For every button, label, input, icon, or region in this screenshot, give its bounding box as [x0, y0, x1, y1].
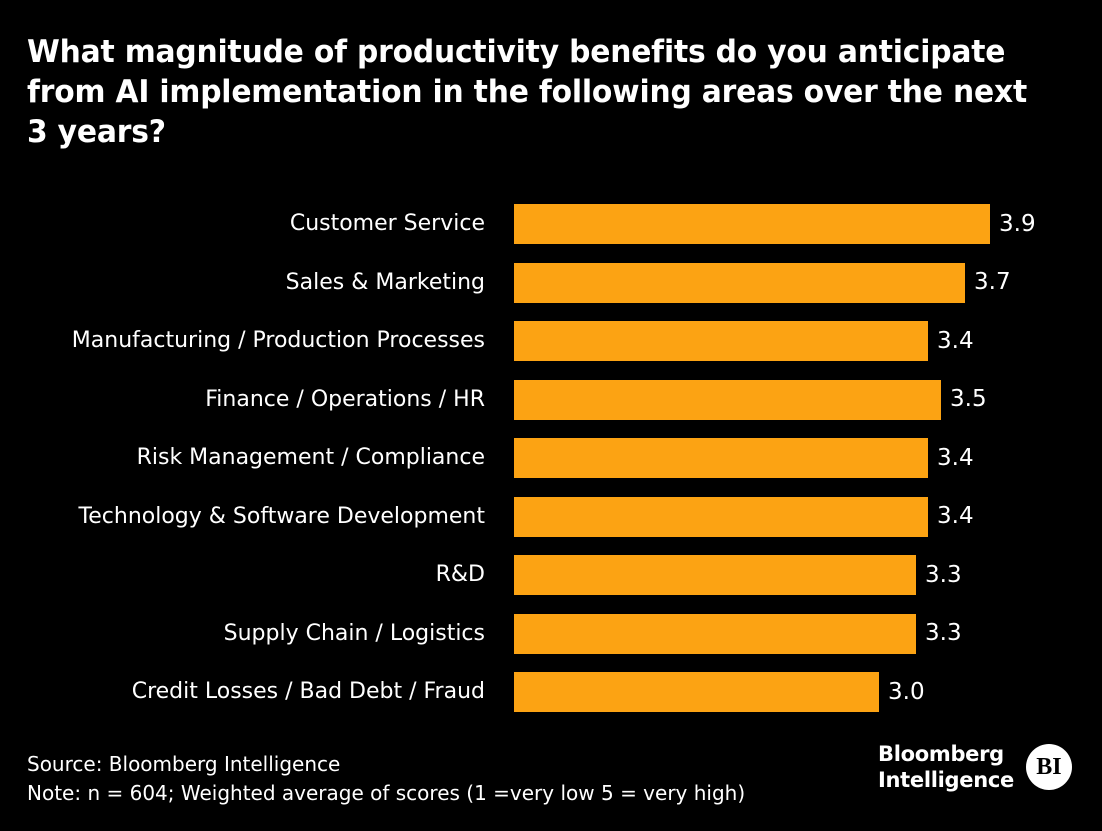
bar-group: 3.4	[514, 497, 974, 537]
chart-page: What magnitude of productivity benefits …	[0, 0, 1102, 831]
chart-row: Credit Losses / Bad Debt / Fraud3.0	[0, 663, 1102, 722]
bar-chart: Customer Service3.9Sales & Marketing3.7M…	[0, 195, 1102, 730]
bar	[514, 380, 941, 420]
chart-row: Sales & Marketing3.7	[0, 254, 1102, 313]
bar-value-label: 3.4	[937, 505, 974, 528]
bar-group: 3.3	[514, 555, 962, 595]
chart-row: Customer Service3.9	[0, 195, 1102, 254]
bar-group: 3.3	[514, 614, 962, 654]
chart-row: Manufacturing / Production Processes3.4	[0, 312, 1102, 371]
bar	[514, 672, 879, 712]
bar	[514, 555, 916, 595]
chart-row: Risk Management / Compliance3.4	[0, 429, 1102, 488]
bar	[514, 204, 990, 244]
bar-value-label: 3.3	[925, 564, 962, 587]
category-label: Risk Management / Compliance	[0, 445, 485, 471]
bar	[514, 321, 928, 361]
bar-value-label: 3.9	[999, 213, 1036, 236]
bar	[514, 497, 928, 537]
chart-row: Finance / Operations / HR3.5	[0, 371, 1102, 430]
note-text: Note: n = 604; Weighted average of score…	[27, 779, 745, 808]
bar-value-label: 3.3	[925, 622, 962, 645]
bar-value-label: 3.0	[888, 681, 925, 704]
bar-value-label: 3.7	[974, 271, 1011, 294]
bar	[514, 614, 916, 654]
category-label: Manufacturing / Production Processes	[0, 328, 485, 354]
chart-row: R&D3.3	[0, 546, 1102, 605]
bar-value-label: 3.5	[950, 388, 987, 411]
bloomberg-intelligence-logo: Bloomberg Intelligence BI	[878, 741, 1072, 793]
bar-group: 3.4	[514, 321, 974, 361]
bar-group: 3.7	[514, 263, 1011, 303]
bar-group: 3.4	[514, 438, 974, 478]
bar-group: 3.5	[514, 380, 987, 420]
bar-value-label: 3.4	[937, 330, 974, 353]
logo-wordmark: Bloomberg Intelligence	[878, 741, 1014, 793]
bar-value-label: 3.4	[937, 447, 974, 470]
category-label: Technology & Software Development	[0, 504, 485, 530]
bar-group: 3.0	[514, 672, 925, 712]
category-label: Customer Service	[0, 211, 485, 237]
category-label: Finance / Operations / HR	[0, 387, 485, 413]
bar	[514, 438, 928, 478]
category-label: Sales & Marketing	[0, 270, 485, 296]
logo-line-1: Bloomberg	[878, 741, 1014, 767]
footer: Source: Bloomberg Intelligence Note: n =…	[27, 750, 745, 808]
chart-row: Supply Chain / Logistics3.3	[0, 605, 1102, 664]
bar	[514, 263, 965, 303]
bar-group: 3.9	[514, 204, 1036, 244]
bi-badge-icon: BI	[1026, 744, 1072, 790]
logo-line-2: Intelligence	[878, 767, 1014, 793]
source-text: Source: Bloomberg Intelligence	[27, 750, 745, 779]
category-label: Credit Losses / Bad Debt / Fraud	[0, 679, 485, 705]
category-label: R&D	[0, 562, 485, 588]
category-label: Supply Chain / Logistics	[0, 621, 485, 647]
page-title: What magnitude of productivity benefits …	[27, 32, 1035, 152]
chart-row: Technology & Software Development3.4	[0, 488, 1102, 547]
